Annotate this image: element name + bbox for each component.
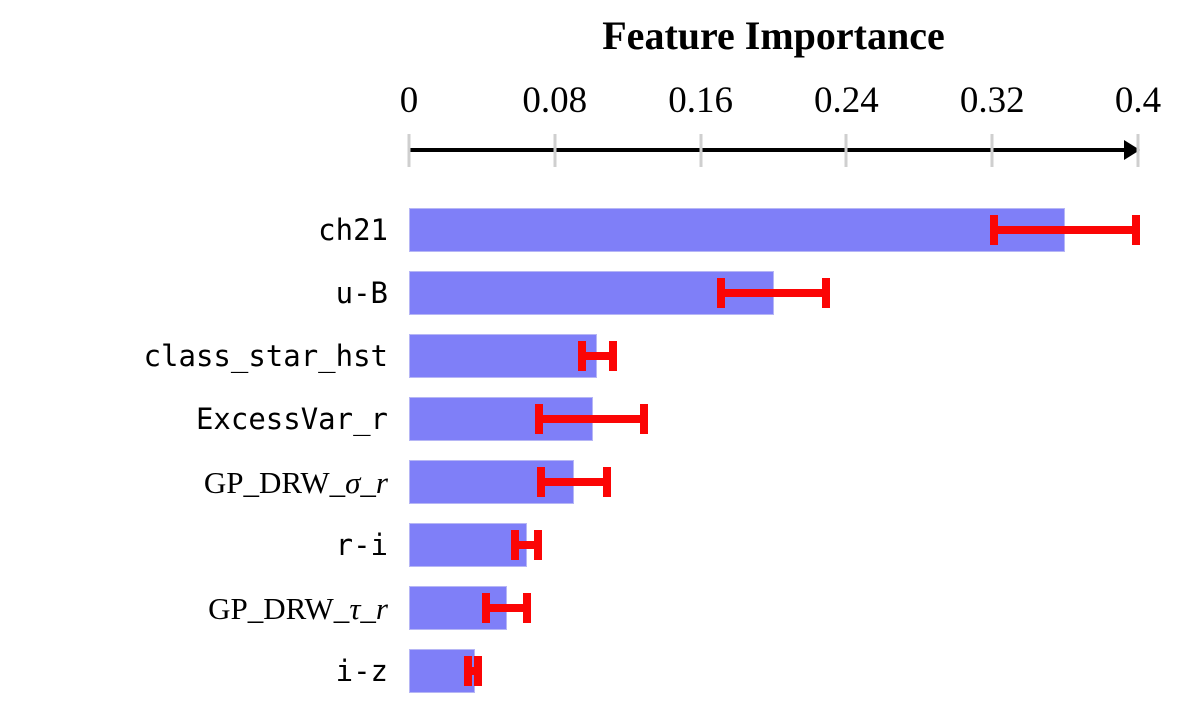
- error-bar-cap-high: [523, 593, 531, 623]
- error-bar-cap-low: [482, 593, 490, 623]
- error-bar-cap-high: [474, 656, 482, 686]
- label-part: σ: [345, 465, 360, 500]
- error-bar-line: [535, 415, 648, 423]
- error-bar-cap-low: [717, 278, 725, 308]
- bar-category-label: class_star_hst: [144, 342, 388, 371]
- plot-area: ch21u-Bclass_star_hstExcessVar_rGP_DRW_σ…: [0, 0, 1200, 701]
- bar-category-label: i-z: [336, 657, 388, 686]
- error-bar-cap-low: [990, 215, 998, 245]
- error-bar-cap-low: [511, 530, 519, 560]
- feature-importance-chart: Feature Importance 00.080.160.240.320.4 …: [0, 0, 1200, 701]
- bar-category-label: ch21: [318, 216, 388, 245]
- error-bar-line: [717, 289, 830, 297]
- bar-row: GP_DRW_τ_r: [0, 586, 1200, 630]
- bar[interactable]: [409, 523, 527, 567]
- error-bar-cap-high: [640, 404, 648, 434]
- error-bar-cap-high: [822, 278, 830, 308]
- label-part: _: [360, 591, 376, 626]
- error-bar-cap-high: [534, 530, 542, 560]
- bar-category-label: GP_DRW_σ_r: [204, 468, 388, 498]
- bar-category-label: ExcessVar_r: [196, 405, 388, 434]
- error-bar-cap-high: [603, 467, 611, 497]
- error-bar-cap-low: [535, 404, 543, 434]
- bar-category-label: GP_DRW_τ_r: [208, 594, 388, 624]
- label-part: GP_DRW_: [208, 591, 349, 626]
- bar-row: GP_DRW_σ_r: [0, 460, 1200, 504]
- bar[interactable]: [409, 208, 1065, 252]
- bar-category-label: u-B: [336, 279, 388, 308]
- error-bar-line: [537, 478, 612, 486]
- error-bar-line: [990, 226, 1139, 234]
- error-bar-cap-high: [1132, 215, 1140, 245]
- error-bar-cap-low: [537, 467, 545, 497]
- label-part: i-z: [336, 654, 388, 688]
- label-part: u-B: [336, 276, 388, 310]
- bar-row: r-i: [0, 523, 1200, 567]
- label-part: class_star_hst: [144, 339, 388, 373]
- bar-row: ch21: [0, 208, 1200, 252]
- bar[interactable]: [409, 334, 597, 378]
- bar-row: i-z: [0, 649, 1200, 693]
- error-bar-cap-low: [464, 656, 472, 686]
- bar-row: class_star_hst: [0, 334, 1200, 378]
- bar-category-label: r-i: [336, 531, 388, 560]
- label-part: ExcessVar_r: [196, 402, 388, 436]
- label-part: r-i: [336, 528, 388, 562]
- error-bar-cap-low: [578, 341, 586, 371]
- error-bar-cap-high: [609, 341, 617, 371]
- bar-row: ExcessVar_r: [0, 397, 1200, 441]
- label-part: ch21: [318, 213, 388, 247]
- label-part: r: [376, 591, 388, 626]
- label-part: GP_DRW_: [204, 465, 345, 500]
- bar-row: u-B: [0, 271, 1200, 315]
- label-part: r: [376, 465, 388, 500]
- label-part: τ: [349, 591, 360, 626]
- label-part: _: [360, 465, 376, 500]
